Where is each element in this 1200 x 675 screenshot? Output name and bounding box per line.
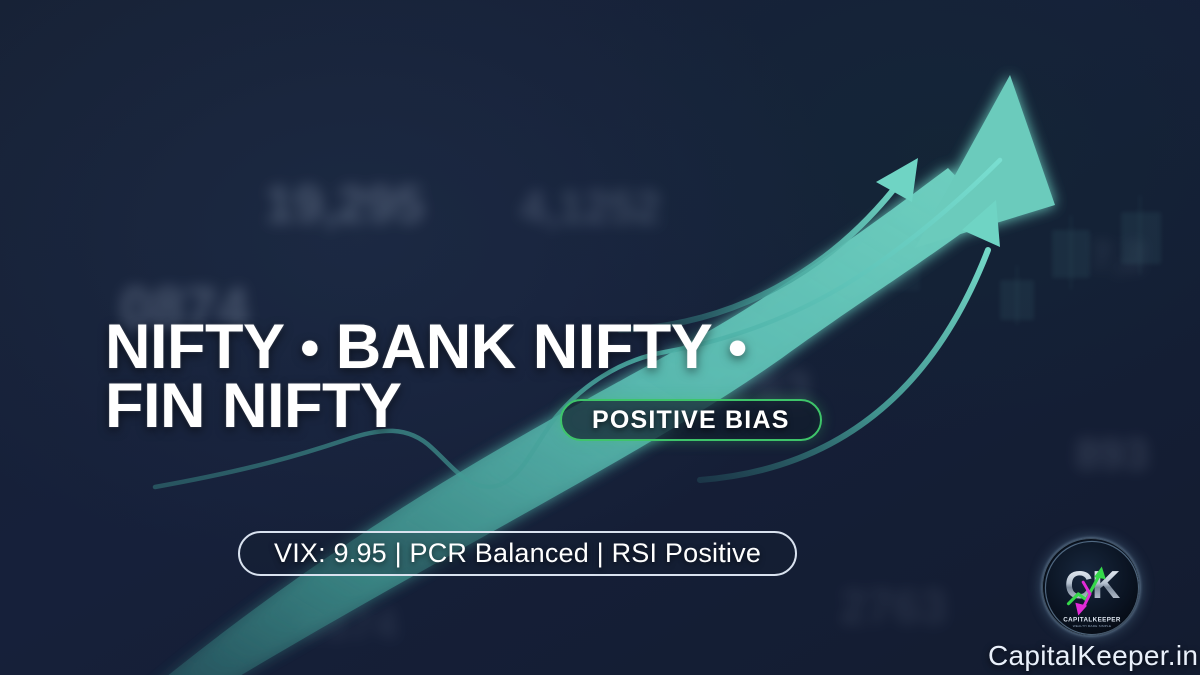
background-digit: 2763: [840, 580, 947, 635]
background-digit: 7,2: [1090, 235, 1146, 280]
brand-site-name: CapitalKeeper.in: [988, 640, 1193, 672]
background-digit: 893: [1075, 430, 1148, 480]
headline-line-1: NIFTY • BANK NIFTY •: [105, 318, 945, 377]
thin-curved-up-arrow: [620, 158, 918, 330]
market-stats-text: VIX: 9.95 | PCR Balanced | RSI Positive: [274, 538, 761, 569]
svg-text:WEALTH MADE SIMPLE: WEALTH MADE SIMPLE: [1072, 624, 1111, 628]
background-digit: 542: [480, 455, 557, 509]
market-bias-banner: 19,295 4,1252 0874 2763 893 542 7,2 2763…: [0, 0, 1200, 675]
logo-caption: CAPITALKEEPER: [1063, 616, 1121, 623]
market-stats-pill: VIX: 9.95 | PCR Balanced | RSI Positive: [238, 531, 797, 576]
background-digit: 4,1252: [520, 180, 661, 234]
capitalkeeper-circle-logo: CK CAPITALKEEPER WEALTH MADE SIMPLE: [1042, 538, 1140, 636]
headline-separator-1: •: [300, 318, 318, 378]
brand-block: CK CAPITALKEEPER WEALTH MADE SIMPLE Capi…: [988, 538, 1193, 672]
status-badge-positive-bias: POSITIVE BIAS: [560, 399, 822, 441]
background-digit: 19,295: [265, 175, 424, 235]
background-digit: 0874: [300, 600, 398, 650]
headline-separator-2: •: [728, 318, 746, 378]
bias-badge-label: POSITIVE BIAS: [592, 406, 790, 435]
